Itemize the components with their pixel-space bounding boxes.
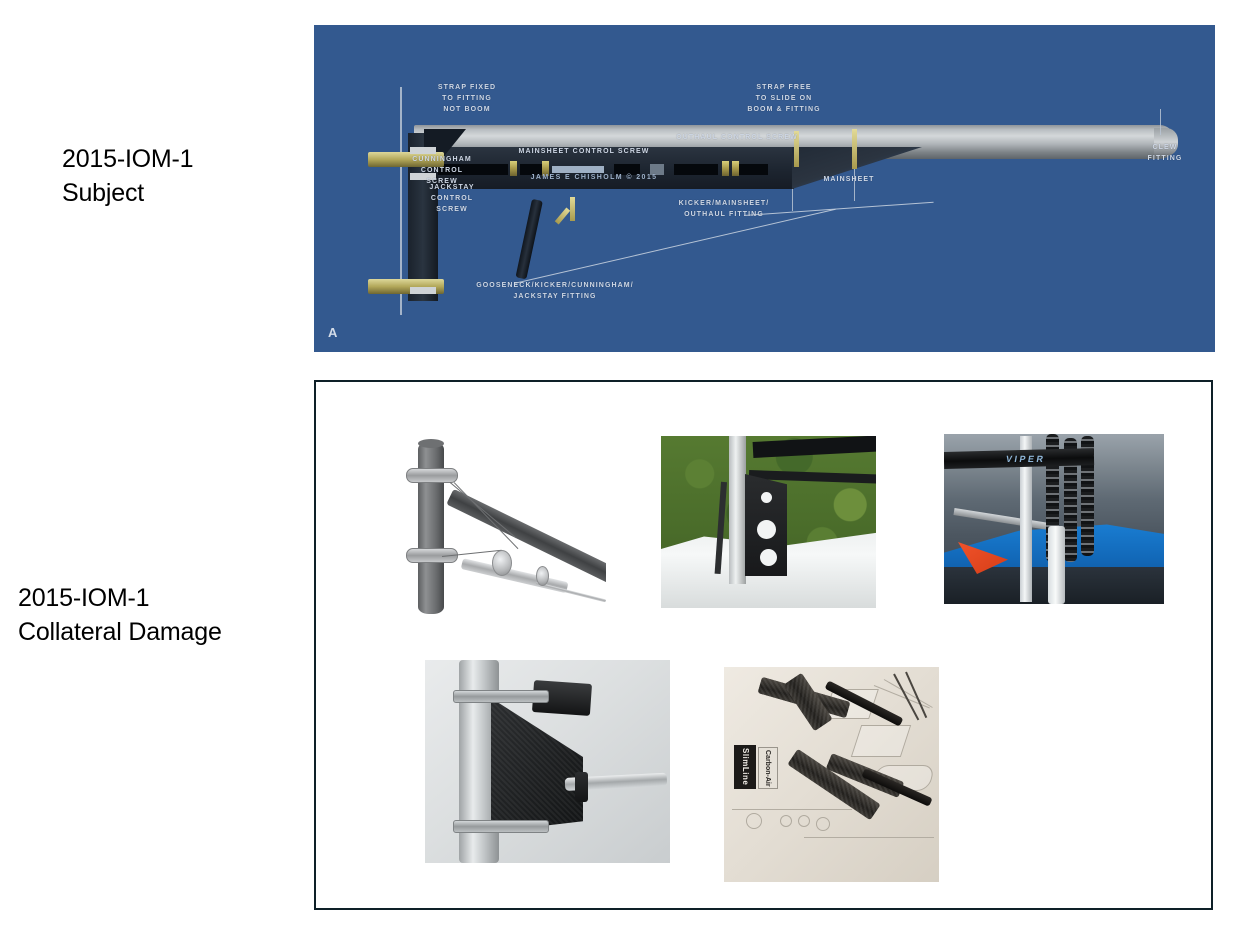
cad-vang-disc [536, 566, 549, 586]
control-slot [738, 164, 768, 175]
white-tube-photo [1048, 526, 1065, 604]
slimline-label: SlimLine [734, 745, 756, 789]
control-slot-light [552, 166, 604, 173]
mast-photo [729, 436, 746, 584]
cad-mast-cap [418, 439, 444, 448]
photo-deck-carbon-plate [661, 436, 876, 608]
cad-diagram-panel: Cunningham Control Screw Jackstay Contro… [314, 25, 1215, 352]
lightening-hole [757, 520, 776, 539]
annotation-jackstay-control-screw: Jackstay Control Screw [406, 183, 498, 216]
annotation-strap-fixed-to-fitting: Strap Fixed To Fitting Not Boom [402, 83, 532, 116]
collateral-damage-panel: VIPER SlimLine Carbon-Air [314, 380, 1213, 910]
mast-band-photo [453, 820, 549, 833]
cad-mast-clamp [406, 468, 458, 483]
control-screw-icon [722, 161, 729, 176]
mast-collar [410, 147, 436, 154]
row-label-subject: 2015-IOM-1 Subject [62, 143, 193, 211]
photo-viper-boom: VIPER [944, 434, 1164, 604]
figure-letter-a: A [328, 325, 337, 340]
annotation-clew-fitting: Clew Fitting [1134, 143, 1196, 165]
kicker-strut-graphic [515, 199, 542, 280]
lightening-hole [760, 549, 777, 566]
lightening-hole [761, 492, 772, 503]
annotation-strap-free-to-slide: Strap Free To Slide On Boom & Fitting [714, 83, 854, 116]
cad-vang-disc [492, 550, 512, 576]
annotation-mainsheet-control-screw: Mainsheet Control Screw [504, 147, 664, 158]
row-label-collateral: 2015-IOM-1 Collateral Damage [18, 582, 222, 650]
annotation-kicker-mainsheet-outhaul-fitting: Kicker/Mainsheet/ Outhaul Fitting [644, 199, 804, 221]
photo-gooseneck-fitting [425, 660, 670, 863]
drawing-detail [780, 815, 792, 827]
clew-drop-line [1160, 109, 1161, 135]
drawing-detail [816, 817, 830, 831]
annotation-copyright: James E Chisholm © 2015 [504, 173, 684, 184]
cad-vang-pin [536, 582, 606, 602]
drawing-detail [851, 725, 911, 757]
annotation-mainsheet: Mainsheet [804, 175, 894, 186]
drawing-line [732, 809, 852, 810]
mainsheet-screw-icon [852, 129, 857, 169]
photo-cad-vang-assembly [366, 430, 606, 620]
annotation-gooseneck-kicker-cunningham-jackstay-fitting: Gooseneck/Kicker/Cunningham/ Jackstay Fi… [410, 281, 700, 303]
mast-band-photo [453, 690, 549, 703]
drawing-line [804, 837, 934, 838]
vang-knob-photo [575, 772, 588, 802]
jackstay-screw-icon [555, 207, 570, 224]
viper-wordmark: VIPER [1005, 454, 1046, 464]
drawing-detail [746, 813, 762, 829]
drawing-detail [798, 815, 810, 827]
annotation-outhaul-control-screw: Outhaul Control Screw [662, 133, 812, 144]
carbon-air-label: Carbon-Air [758, 747, 778, 789]
photo-carbon-parts-on-drawing: SlimLine Carbon-Air [724, 667, 939, 882]
control-screw-icon [732, 161, 739, 176]
jackstay-screw-icon [570, 197, 575, 221]
